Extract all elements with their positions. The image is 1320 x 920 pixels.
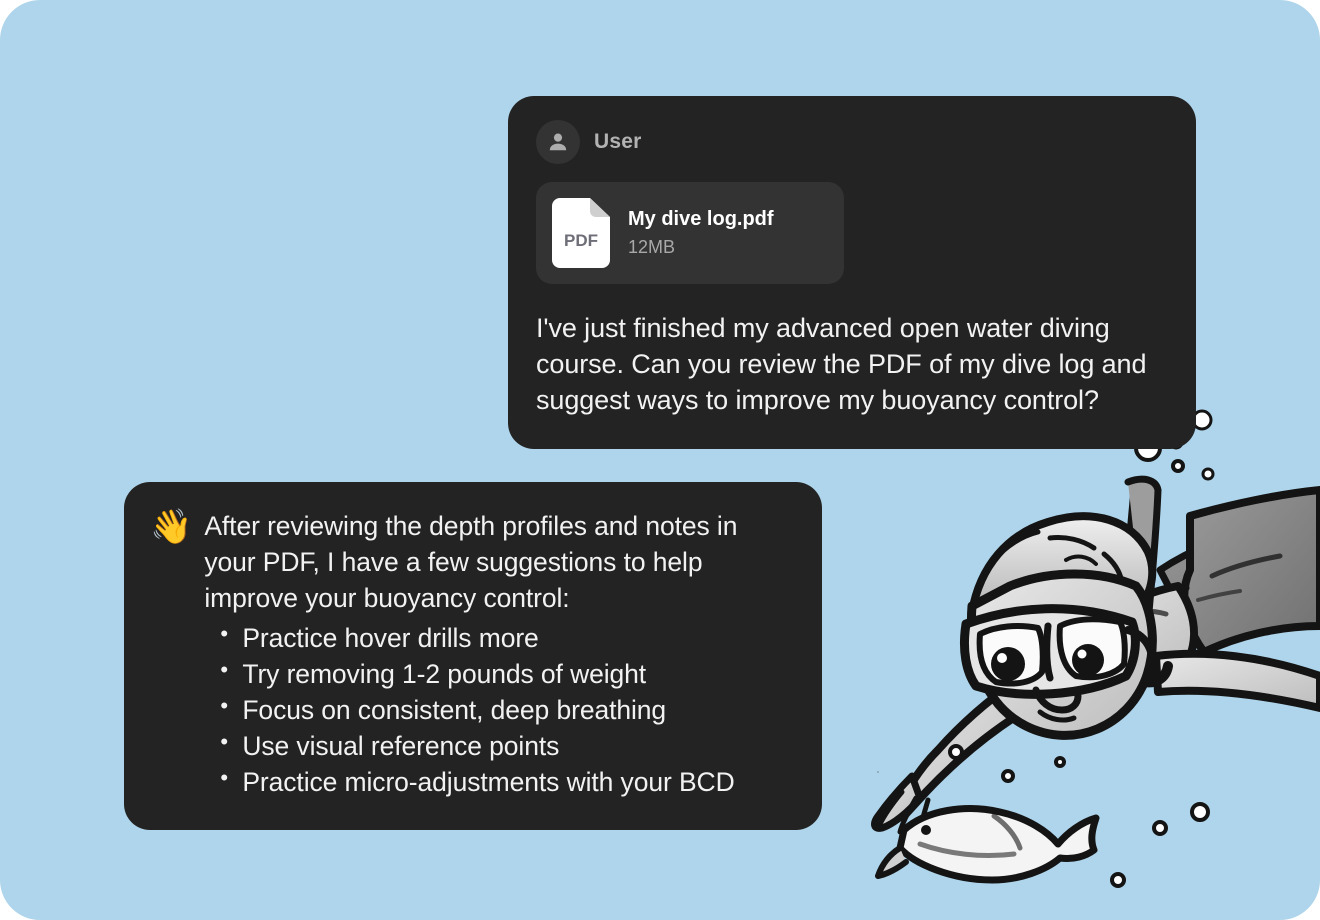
user-sender-label: User (594, 130, 642, 154)
list-item: Focus on consistent, deep breathing (242, 692, 794, 728)
pdf-icon-label: PDF (564, 231, 598, 250)
attachment-size: 12MB (628, 237, 774, 259)
attachment-meta: My dive log.pdf 12MB (628, 207, 774, 259)
list-item: Practice hover drills more (242, 620, 794, 656)
attachment-card[interactable]: PDF My dive log.pdf 12MB (536, 182, 844, 284)
user-message-text: I've just finished my advanced open wate… (536, 310, 1168, 419)
user-avatar-icon (536, 120, 580, 164)
snorkeler-underwater-illustration (860, 420, 1320, 920)
waving-hand-emoji: 👋 (150, 510, 192, 546)
list-item: Try removing 1-2 pounds of weight (242, 656, 794, 692)
attachment-name: My dive log.pdf (628, 207, 774, 231)
assistant-intro-text: After reviewing the depth profiles and n… (204, 508, 794, 616)
list-item: Practice micro-adjustments with your BCD (242, 764, 794, 800)
list-item: Use visual reference points (242, 728, 794, 764)
user-message-bubble: User PDF My dive log.pdf 12MB I've just … (508, 96, 1196, 449)
pdf-file-icon: PDF (552, 198, 610, 268)
scene-canvas: User PDF My dive log.pdf 12MB I've just … (0, 0, 1320, 920)
assistant-message-bubble: 👋 After reviewing the depth profiles and… (124, 482, 822, 830)
user-header: User (536, 120, 1168, 164)
suggestion-list: Practice hover drills more Try removing … (204, 620, 794, 800)
